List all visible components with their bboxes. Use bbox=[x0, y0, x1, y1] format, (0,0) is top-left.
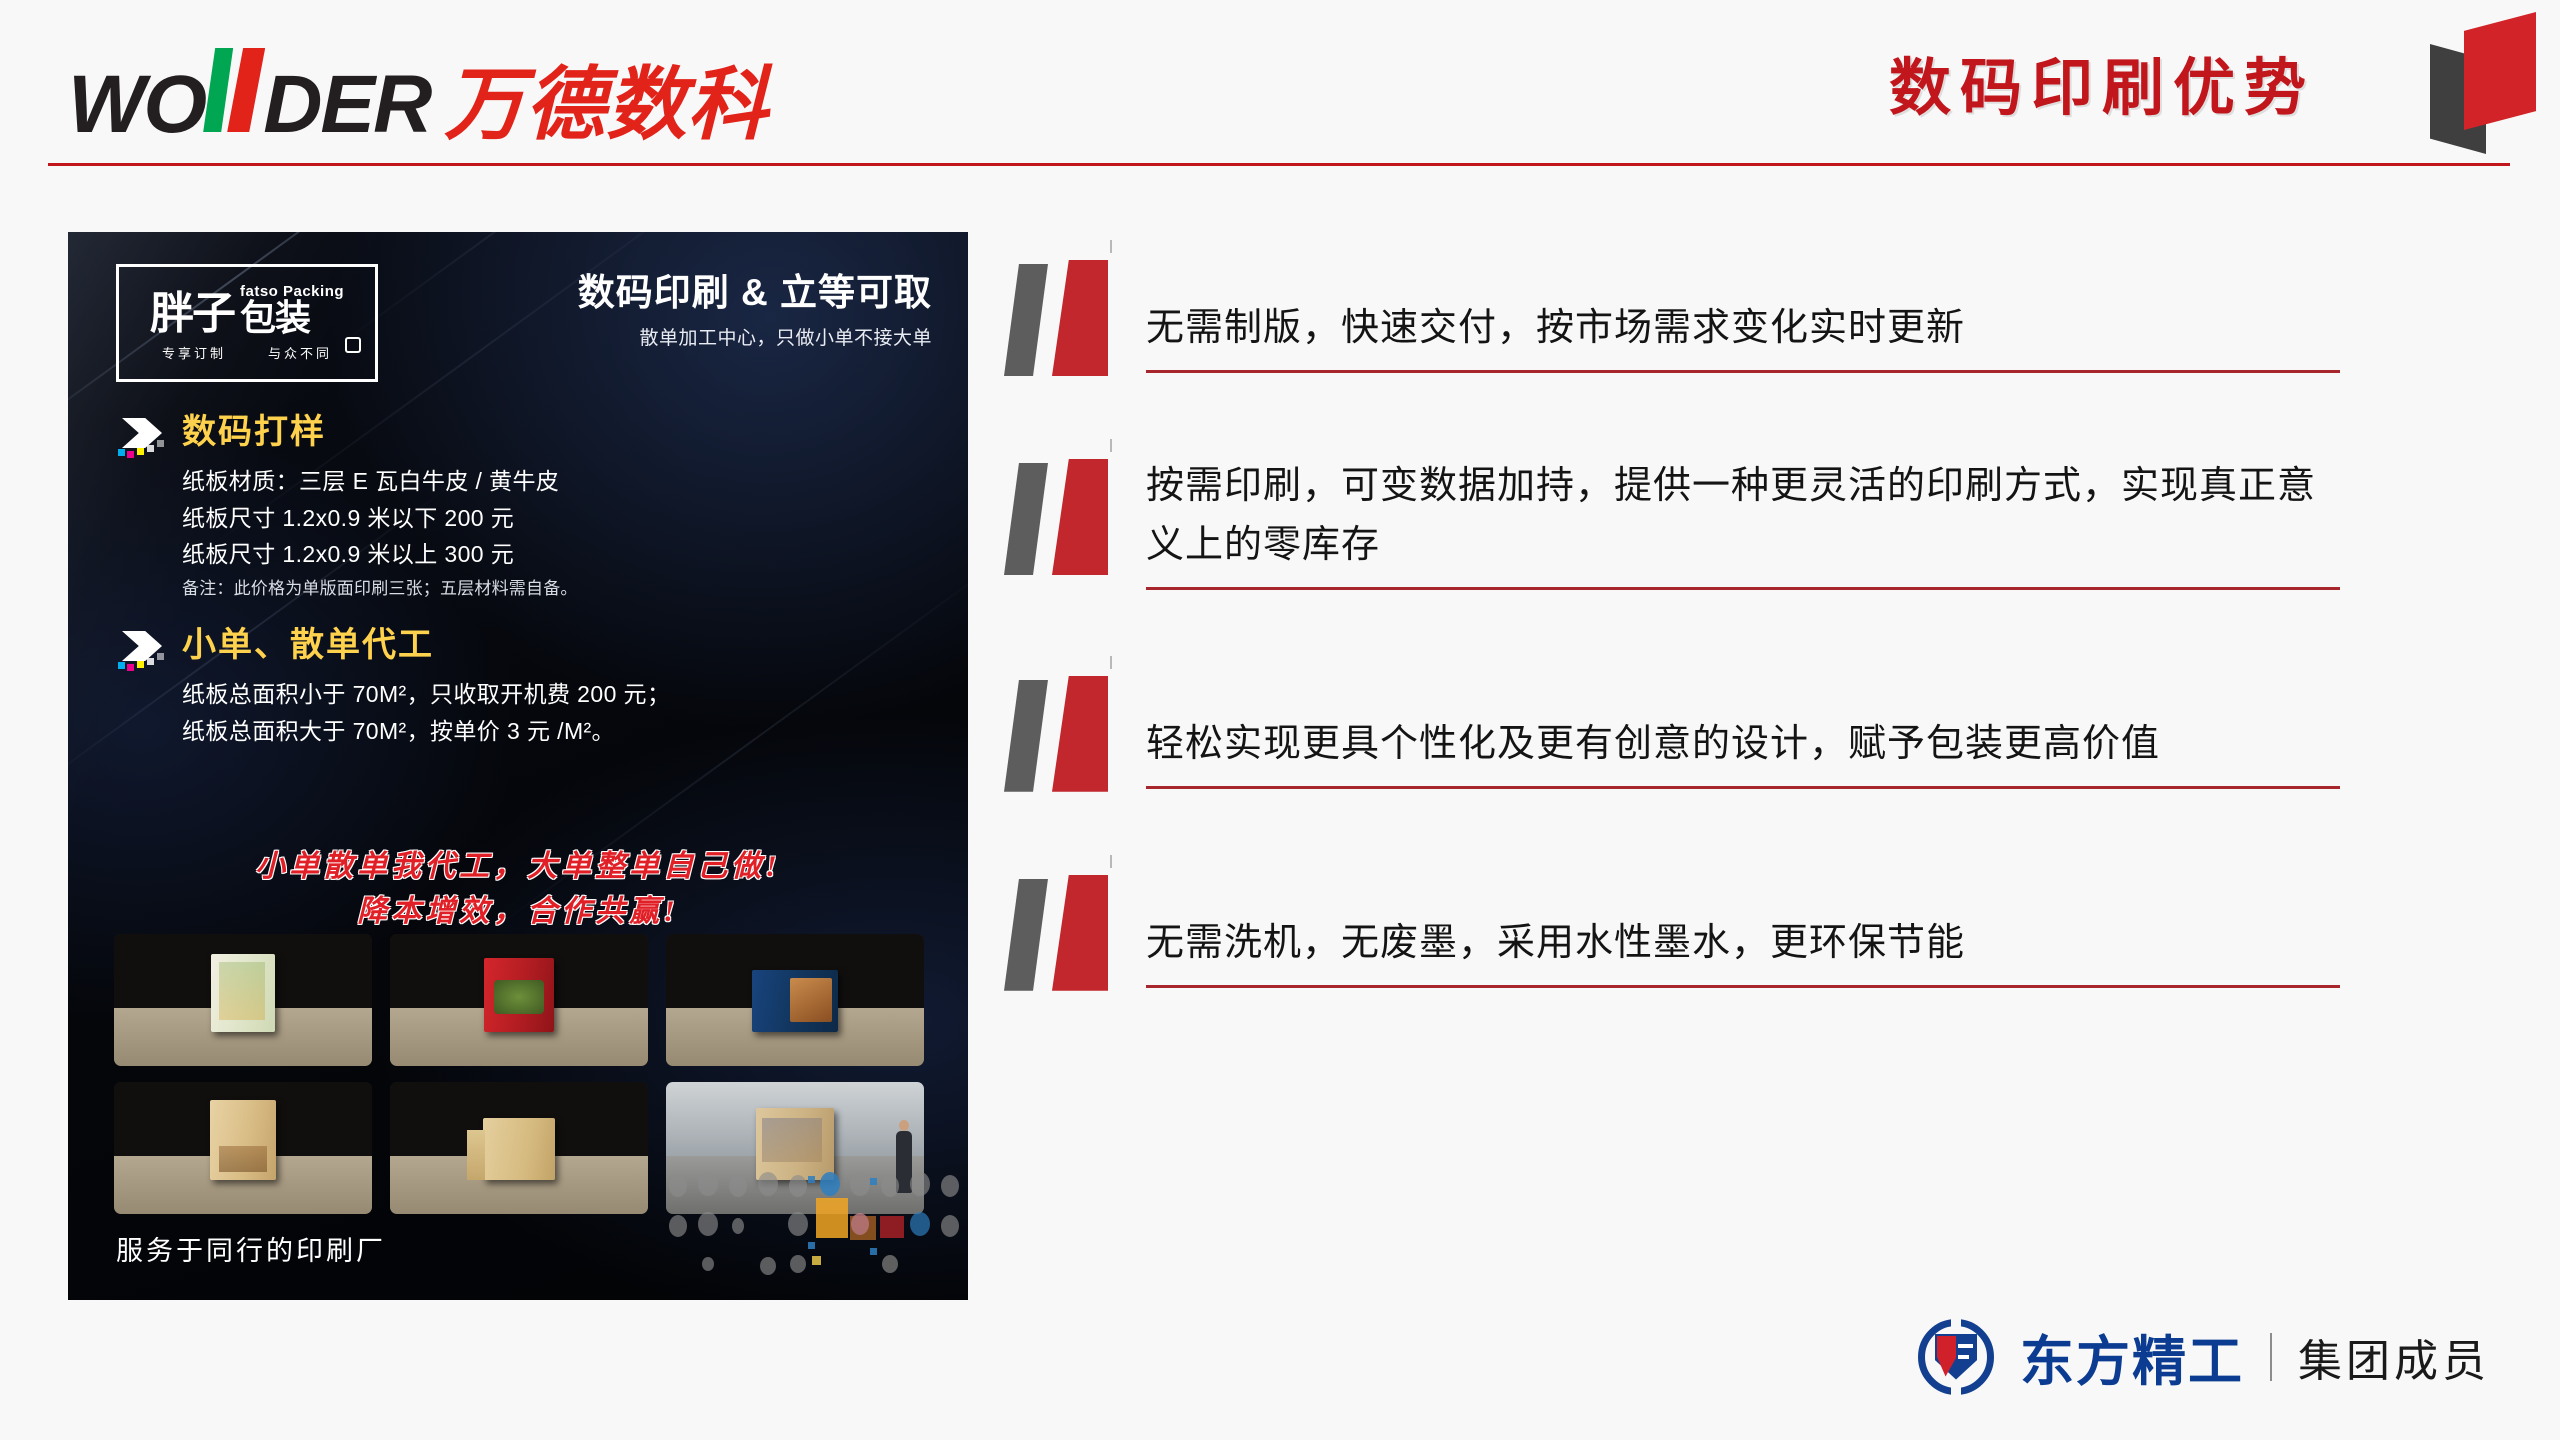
dongfang-emblem-icon bbox=[1918, 1319, 1994, 1395]
arrow-dot-white bbox=[157, 440, 164, 447]
benefits-list: 无需制版，快速交付，按市场需求变化实时更新 按需印刷，可变数据加持，提供一种更灵… bbox=[1000, 258, 2340, 988]
bullet-marker-icon bbox=[1000, 457, 1128, 577]
arrow-dot-magenta bbox=[127, 664, 134, 671]
product-box-kraft bbox=[210, 1100, 276, 1180]
poster-image: 胖子 fatso Packing 包装 专享订制 与众不同 数码印刷 & 立等可… bbox=[68, 232, 968, 1300]
brand-logo-der: DER bbox=[263, 64, 430, 146]
bullet-marker-icon bbox=[1000, 674, 1128, 794]
bullet-marker-red bbox=[1052, 459, 1108, 575]
poster-brand-mark-icon bbox=[345, 337, 361, 353]
benefit-item: 轻松实现更具个性化及更有创意的设计，赋予包装更高价值 bbox=[1000, 674, 2340, 789]
bullet-marker-icon bbox=[1000, 873, 1128, 993]
brand-logo-n-green bbox=[203, 48, 233, 132]
poster-slogan: 小单散单我代工，大单整单自己做! 降本增效，合作共赢! bbox=[68, 844, 968, 934]
arrow-dot-yellow bbox=[137, 661, 144, 668]
brand-logo: WO DER 万德数科 bbox=[68, 48, 768, 146]
poster-headline-block: 数码印刷 & 立等可取 散单加工中心，只做小单不接大单 bbox=[578, 272, 932, 350]
benefit-text: 轻松实现更具个性化及更有创意的设计，赋予包装更高价值 bbox=[1146, 715, 2340, 786]
product-box-red bbox=[484, 958, 554, 1032]
arrow-dot-white bbox=[147, 445, 154, 452]
tick-mark bbox=[1110, 656, 1112, 669]
product-photo bbox=[390, 934, 648, 1066]
arrow-dot-white bbox=[157, 653, 164, 660]
bullet-marker-red bbox=[1052, 676, 1108, 792]
poster-section-line: 纸板材质：三层 E 瓦白牛皮 / 黄牛皮 bbox=[182, 463, 578, 499]
bullet-marker-grey bbox=[1004, 680, 1048, 792]
bullet-marker-icon bbox=[1000, 258, 1128, 378]
arrow-glyph bbox=[122, 631, 162, 661]
poster-slogan-line: 降本增效，合作共赢! bbox=[68, 889, 968, 934]
poster-section-small-orders: 小单、散单代工 纸板总面积小于 70M²，只收取开机费 200 元； 纸板总面积… bbox=[114, 627, 670, 749]
product-box-honey bbox=[211, 954, 275, 1032]
product-box-blue bbox=[752, 970, 838, 1032]
brand-logo-n-red bbox=[227, 48, 265, 132]
poster-dot-pattern bbox=[664, 1164, 968, 1292]
product-photo bbox=[114, 934, 372, 1066]
corner-deco-red-shape bbox=[2464, 12, 2536, 130]
chevron-arrow-icon bbox=[114, 418, 172, 462]
brand-logo-latin: WO DER bbox=[68, 48, 430, 146]
benefit-item: 按需印刷，可变数据加持，提供一种更灵活的印刷方式，实现真正意义上的零库存 bbox=[1000, 457, 2340, 590]
tick-mark bbox=[1110, 439, 1112, 452]
poster-section-digital-proofing: 数码打样 纸板材质：三层 E 瓦白牛皮 / 黄牛皮 纸板尺寸 1.2x0.9 米… bbox=[114, 414, 578, 603]
product-photo bbox=[390, 1082, 648, 1214]
footer-group-logo: 东方精工 集团成员 bbox=[1918, 1317, 2490, 1396]
poster-brand-name2: 包装 bbox=[240, 301, 310, 334]
product-photo bbox=[666, 934, 924, 1066]
product-photo bbox=[114, 1082, 372, 1214]
bullet-marker-grey bbox=[1004, 879, 1048, 991]
arrow-dot-cyan bbox=[118, 449, 125, 456]
poster-brand-name: 胖子 bbox=[150, 294, 234, 334]
arrow-glyph bbox=[122, 418, 162, 448]
poster-section-title: 小单、散单代工 bbox=[182, 627, 670, 664]
poster-section-line: 纸板总面积小于 70M²，只收取开机费 200 元； bbox=[182, 676, 670, 712]
benefit-underline bbox=[1146, 786, 2340, 789]
poster-brand-tag-left: 专享订制 bbox=[162, 343, 226, 362]
bullet-marker-red bbox=[1052, 875, 1108, 991]
arrow-dot-magenta bbox=[127, 451, 134, 458]
arrow-dot-cyan bbox=[118, 662, 125, 669]
emblem-gap-bottom bbox=[1951, 1380, 1961, 1398]
benefit-underline bbox=[1146, 370, 2340, 373]
tick-mark bbox=[1110, 240, 1112, 253]
product-box-gold bbox=[483, 1118, 555, 1180]
benefit-text: 无需制版，快速交付，按市场需求变化实时更新 bbox=[1146, 299, 2340, 370]
page-title: 数码印刷优势 bbox=[1889, 50, 2315, 128]
benefit-item: 无需洗机，无废墨，采用水性墨水，更环保节能 bbox=[1000, 873, 2340, 988]
poster-footer-text: 服务于同行的印刷厂 bbox=[116, 1229, 386, 1268]
header-divider bbox=[48, 163, 2510, 166]
poster-section-line: 纸板尺寸 1.2x0.9 米以上 300 元 bbox=[182, 536, 578, 572]
bullet-marker-grey bbox=[1004, 264, 1048, 376]
brand-logo-n-icon bbox=[203, 48, 265, 132]
poster-brand-badge: 胖子 fatso Packing 包装 专享订制 与众不同 bbox=[116, 264, 378, 382]
poster-section-note: 备注：此价格为单版面印刷三张；五层材料需自备。 bbox=[182, 576, 578, 603]
poster-headline: 数码印刷 & 立等可取 bbox=[578, 272, 932, 315]
arrow-dot-white bbox=[147, 658, 154, 665]
bullet-marker-grey bbox=[1004, 463, 1048, 575]
poster-slogan-line: 小单散单我代工，大单整单自己做! bbox=[68, 844, 968, 889]
poster-brand-tag-right: 与众不同 bbox=[268, 343, 332, 362]
emblem-bar-lower bbox=[1958, 1355, 1969, 1359]
benefit-text: 无需洗机，无废墨，采用水性墨水，更环保节能 bbox=[1146, 914, 2340, 985]
corner-decoration-icon bbox=[2416, 6, 2542, 156]
bullet-marker-red bbox=[1052, 260, 1108, 376]
poster-section-title: 数码打样 bbox=[182, 414, 578, 451]
brand-logo-wo: WO bbox=[68, 64, 205, 146]
poster-subheadline: 散单加工中心，只做小单不接大单 bbox=[578, 323, 932, 350]
benefit-underline bbox=[1146, 587, 2340, 590]
emblem-gap-top bbox=[1951, 1316, 1961, 1334]
benefit-underline bbox=[1146, 985, 2340, 988]
tick-mark bbox=[1110, 855, 1112, 868]
poster-section-line: 纸板尺寸 1.2x0.9 米以下 200 元 bbox=[182, 500, 578, 536]
benefit-item: 无需制版，快速交付，按市场需求变化实时更新 bbox=[1000, 258, 2340, 373]
brand-logo-chinese: 万德数科 bbox=[444, 65, 768, 145]
benefit-text: 按需印刷，可变数据加持，提供一种更灵活的印刷方式，实现真正意义上的零库存 bbox=[1146, 457, 2340, 587]
emblem-bar-upper bbox=[1958, 1344, 1973, 1348]
page-header: WO DER 万德数科 数码印刷优势 bbox=[0, 0, 2560, 168]
footer-member-label: 集团成员 bbox=[2298, 1325, 2490, 1389]
footer-divider bbox=[2270, 1333, 2272, 1381]
footer-company-name: 东方精工 bbox=[2020, 1317, 2244, 1396]
arrow-dot-yellow bbox=[137, 448, 144, 455]
chevron-arrow-icon bbox=[114, 631, 172, 675]
poster-section-line: 纸板总面积大于 70M²，按单价 3 元 /M²。 bbox=[182, 713, 670, 749]
